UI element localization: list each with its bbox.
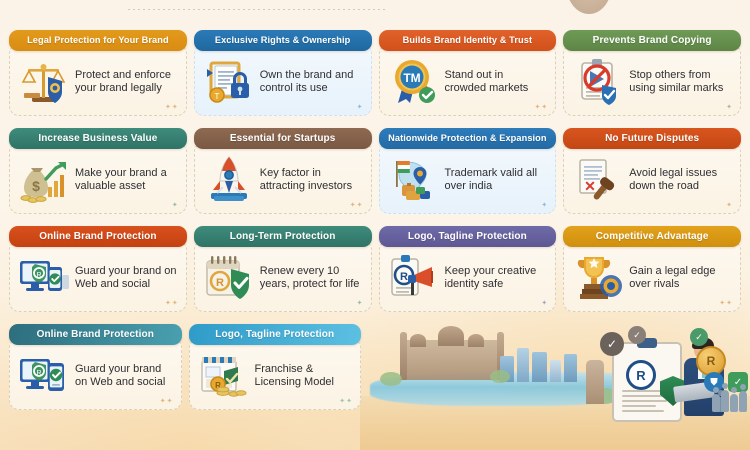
infographic-canvas: Legal Protection for Your Brand <box>0 0 750 450</box>
card-body: R Franchise & Licensing Model ✦✦ <box>189 338 362 410</box>
sparkle-icon: ✦ <box>541 299 548 307</box>
monitor-phone-check-icon: R <box>18 351 70 401</box>
india-skyline-trademark-consultant-illustration: R R ✓ ✓ ✓ ✓ ⛊ <box>360 326 750 450</box>
card-body: R Renew every 10 years, protect for life… <box>194 240 372 312</box>
card-body: Trademark valid all over india ✦ <box>379 142 557 214</box>
card-title: Increase Business Value <box>9 128 187 149</box>
card-row-3: Online Brand Protection R <box>0 226 750 312</box>
card-title: Nationwide Protection & Expansion <box>379 128 557 149</box>
card-row-4: Online Brand Protection R <box>0 324 370 410</box>
card-body: TM Stand out in crowded markets ✦✦ <box>379 44 557 116</box>
benefit-card-logo-tagline-protection[interactable]: Logo, Tagline Protection R <box>379 226 557 312</box>
card-title: Logo, Tagline Protection <box>189 324 362 345</box>
benefit-card-logo-tagline-protection-2[interactable]: Logo, Tagline Protection R <box>189 324 362 410</box>
sparkle-icon: ✦ <box>357 103 364 111</box>
card-description: Trademark valid all over india <box>445 167 548 194</box>
card-description: Guard your brand on Web and social <box>75 363 173 390</box>
benefit-card-legal-protection-for-your-brand[interactable]: Legal Protection for Your Brand <box>9 30 187 116</box>
benefit-card-online-brand-protection[interactable]: Online Brand Protection R <box>9 226 187 312</box>
calendar-registered-shield-icon: R <box>203 253 255 303</box>
svg-text:TM: TM <box>403 71 420 85</box>
sparkle-icon: ✦✦ <box>350 201 364 209</box>
card-title: Builds Brand Identity & Trust <box>379 30 557 51</box>
svg-text:✕: ✕ <box>584 178 596 194</box>
card-title: Prevents Brand Copying <box>563 30 741 51</box>
check-badge-icon: ✓ <box>628 326 646 344</box>
sparkle-icon: ✦ <box>726 103 733 111</box>
card-body: Key factor in attracting investors ✦✦ <box>194 142 372 214</box>
svg-text:$: $ <box>32 178 40 194</box>
card-body: ✕ Avoid legal issues down the road ✦ <box>563 142 741 214</box>
card-title: Legal Protection for Your Brand <box>9 30 187 51</box>
monitor-phone-registered-icon: R <box>18 253 70 303</box>
tm-rosette-check-icon: TM <box>388 57 440 107</box>
card-body: R Guard your brand on Web and social ✦✦ <box>9 338 182 410</box>
sparkle-icon: ✦ <box>357 299 364 307</box>
sparkle-icon: ✦✦ <box>339 397 353 405</box>
trophy-podium-icon <box>572 253 624 303</box>
benefit-card-increase-business-value[interactable]: Increase Business Value $ <box>9 128 187 214</box>
benefit-card-competitive-advantage[interactable]: Competitive Advantage <box>563 226 741 312</box>
no-copy-clipboard-shield-icon <box>572 57 624 107</box>
card-title: Competitive Advantage <box>563 226 741 247</box>
card-row-2: Increase Business Value $ <box>0 128 750 214</box>
sparkle-icon: ✦✦ <box>719 299 733 307</box>
card-description: Renew every 10 years, protect for life <box>260 265 363 292</box>
partial-circle-ornament-icon <box>566 0 612 14</box>
card-description: Stand out in crowded markets <box>445 69 548 96</box>
benefit-card-exclusive-rights-ownership[interactable]: Exclusive Rights & Ownership T <box>194 30 372 116</box>
card-body: R Keep your creative identity safe ✦ <box>379 240 557 312</box>
card-title: Exclusive Rights & Ownership <box>194 30 372 51</box>
card-description: Gain a legal edge over rivals <box>629 265 732 292</box>
tree-bush-icon <box>490 370 510 383</box>
scales-of-justice-shield-icon <box>18 57 70 107</box>
rocket-launch-icon <box>203 155 255 205</box>
card-title: Logo, Tagline Protection <box>379 226 557 247</box>
money-bag-growth-icon: $ <box>18 155 70 205</box>
benefit-card-no-future-disputes[interactable]: No Future Disputes ✕ Avoid legal issues … <box>563 128 741 214</box>
sparkle-icon: ✦✦ <box>165 103 179 111</box>
card-body: Protect and enforce your brand legally ✦… <box>9 44 187 116</box>
card-description: Franchise & Licensing Model <box>255 363 353 390</box>
card-title: Essential for Startups <box>194 128 372 149</box>
svg-text:R: R <box>400 271 408 283</box>
card-description: Guard your brand on Web and social <box>75 265 178 292</box>
card-body: Stop others from using similar marks ✦ <box>563 44 741 116</box>
benefit-card-prevents-brand-copying[interactable]: Prevents Brand Copying <box>563 30 741 116</box>
card-description: Key factor in attracting investors <box>260 167 363 194</box>
card-title: Long-Term Protection <box>194 226 372 247</box>
india-map-flag-pin-icon <box>388 155 440 205</box>
card-description: Keep your creative identity safe <box>445 265 548 292</box>
tower-icon <box>586 360 604 404</box>
benefit-card-essential-for-startups[interactable]: Essential for Startups <box>194 128 372 214</box>
card-body: Gain a legal edge over rivals ✦✦ <box>563 240 741 312</box>
card-body: $ Make your brand a valuable asset ✦ <box>9 142 187 214</box>
registered-clipboard-megaphone-icon: R <box>388 253 440 303</box>
benefit-card-long-term-protection[interactable]: Long-Term Protection R Renew <box>194 226 372 312</box>
card-description: Avoid legal issues down the road <box>629 167 732 194</box>
sparkle-icon: ✦✦ <box>165 299 179 307</box>
check-badge-icon: ✓ <box>600 332 624 356</box>
svg-text:R: R <box>36 272 41 279</box>
card-description: Protect and enforce your brand legally <box>75 69 178 96</box>
sparkle-icon: ✦ <box>172 201 179 209</box>
sparkle-icon: ✦ <box>726 201 733 209</box>
benefit-card-online-brand-protection-2[interactable]: Online Brand Protection R <box>9 324 182 410</box>
card-body: T Own the brand and control its use ✦ <box>194 44 372 116</box>
card-description: Own the brand and control its use <box>260 69 363 96</box>
svg-text:R: R <box>36 370 41 377</box>
card-title: Online Brand Protection <box>9 324 182 345</box>
storefront-coins-registered-icon: R <box>198 351 250 401</box>
city-buildings-icon <box>500 344 590 382</box>
sparkle-icon: ✦✦ <box>535 103 549 111</box>
card-title: Online Brand Protection <box>9 226 187 247</box>
tree-bush-icon <box>380 372 402 386</box>
dotted-divider-icon <box>128 9 388 10</box>
svg-text:T: T <box>214 92 219 101</box>
registered-symbol: R <box>626 360 656 390</box>
svg-text:R: R <box>216 277 224 289</box>
document-gavel-x-icon: ✕ <box>572 155 624 205</box>
benefit-card-builds-brand-identity-trust[interactable]: Builds Brand Identity & Trust TM <box>379 30 557 116</box>
sparkle-icon: ✦✦ <box>160 397 174 405</box>
sparkle-icon: ✦ <box>541 201 548 209</box>
check-badge-icon: ✓ <box>690 328 708 346</box>
card-description: Stop others from using similar marks <box>629 69 732 96</box>
certificate-lock-icon: T <box>203 57 255 107</box>
crowd-of-people-icon <box>712 384 750 412</box>
card-title: No Future Disputes <box>563 128 741 149</box>
card-row-1: Legal Protection for Your Brand <box>0 30 750 116</box>
card-description: Make your brand a valuable asset <box>75 167 178 194</box>
card-body: R Guard your brand on Web and social ✦✦ <box>9 240 187 312</box>
benefit-card-nationwide-protection-expansion[interactable]: Nationwide Protection & Expansion <box>379 128 557 214</box>
